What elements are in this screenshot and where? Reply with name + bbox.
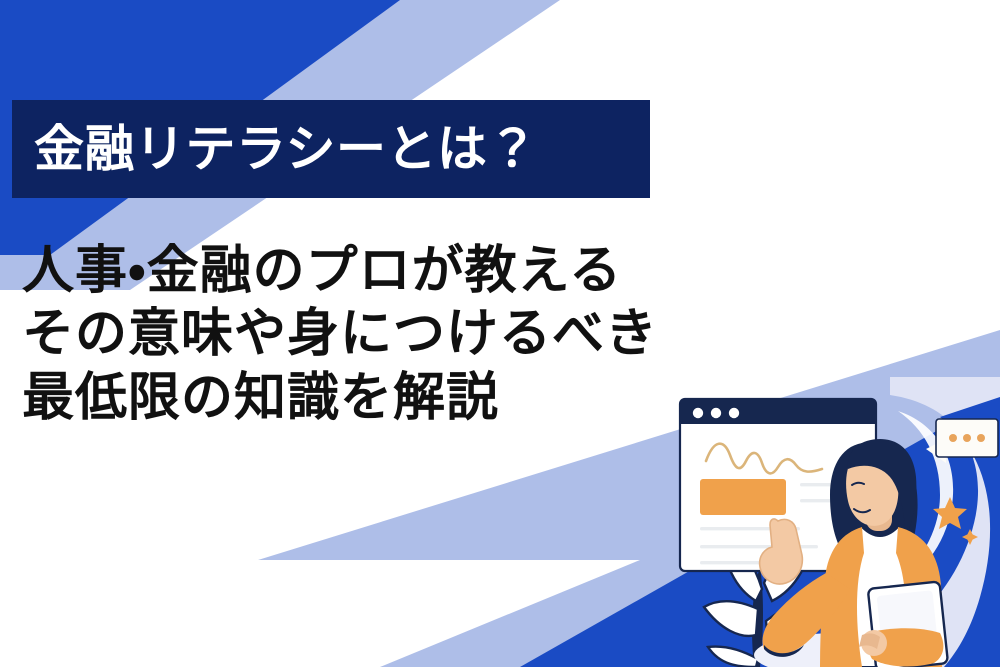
headline-line-1: 人事・金融のプロが教える: [22, 240, 658, 303]
browser-highlight-block[interactable]: [700, 479, 786, 515]
hero-illustration: [640, 377, 1000, 667]
speech-bubble[interactable]: [926, 419, 998, 463]
headline-line-2: その意味や身につけるべき: [22, 303, 658, 366]
browser-titlebar: [680, 399, 876, 424]
speech-dot-1: [949, 434, 957, 442]
browser-dot-1: [693, 408, 703, 418]
slide-canvas: 金融リテラシーとは？ 人事・金融のプロが教える その意味や身につけるべき 最低限…: [0, 0, 1000, 667]
speech-dot-3: [977, 434, 985, 442]
browser-dot-2: [711, 408, 721, 418]
page-title: 金融リテラシーとは？: [34, 124, 538, 174]
headline-block: 人事・金融のプロが教える その意味や身につけるべき 最低限の知識を解説: [22, 240, 658, 430]
headline-line-3: 最低限の知識を解説: [22, 367, 658, 430]
title-banner: 金融リテラシーとは？: [12, 100, 650, 198]
speech-dot-2: [963, 434, 971, 442]
browser-dot-3: [729, 408, 739, 418]
